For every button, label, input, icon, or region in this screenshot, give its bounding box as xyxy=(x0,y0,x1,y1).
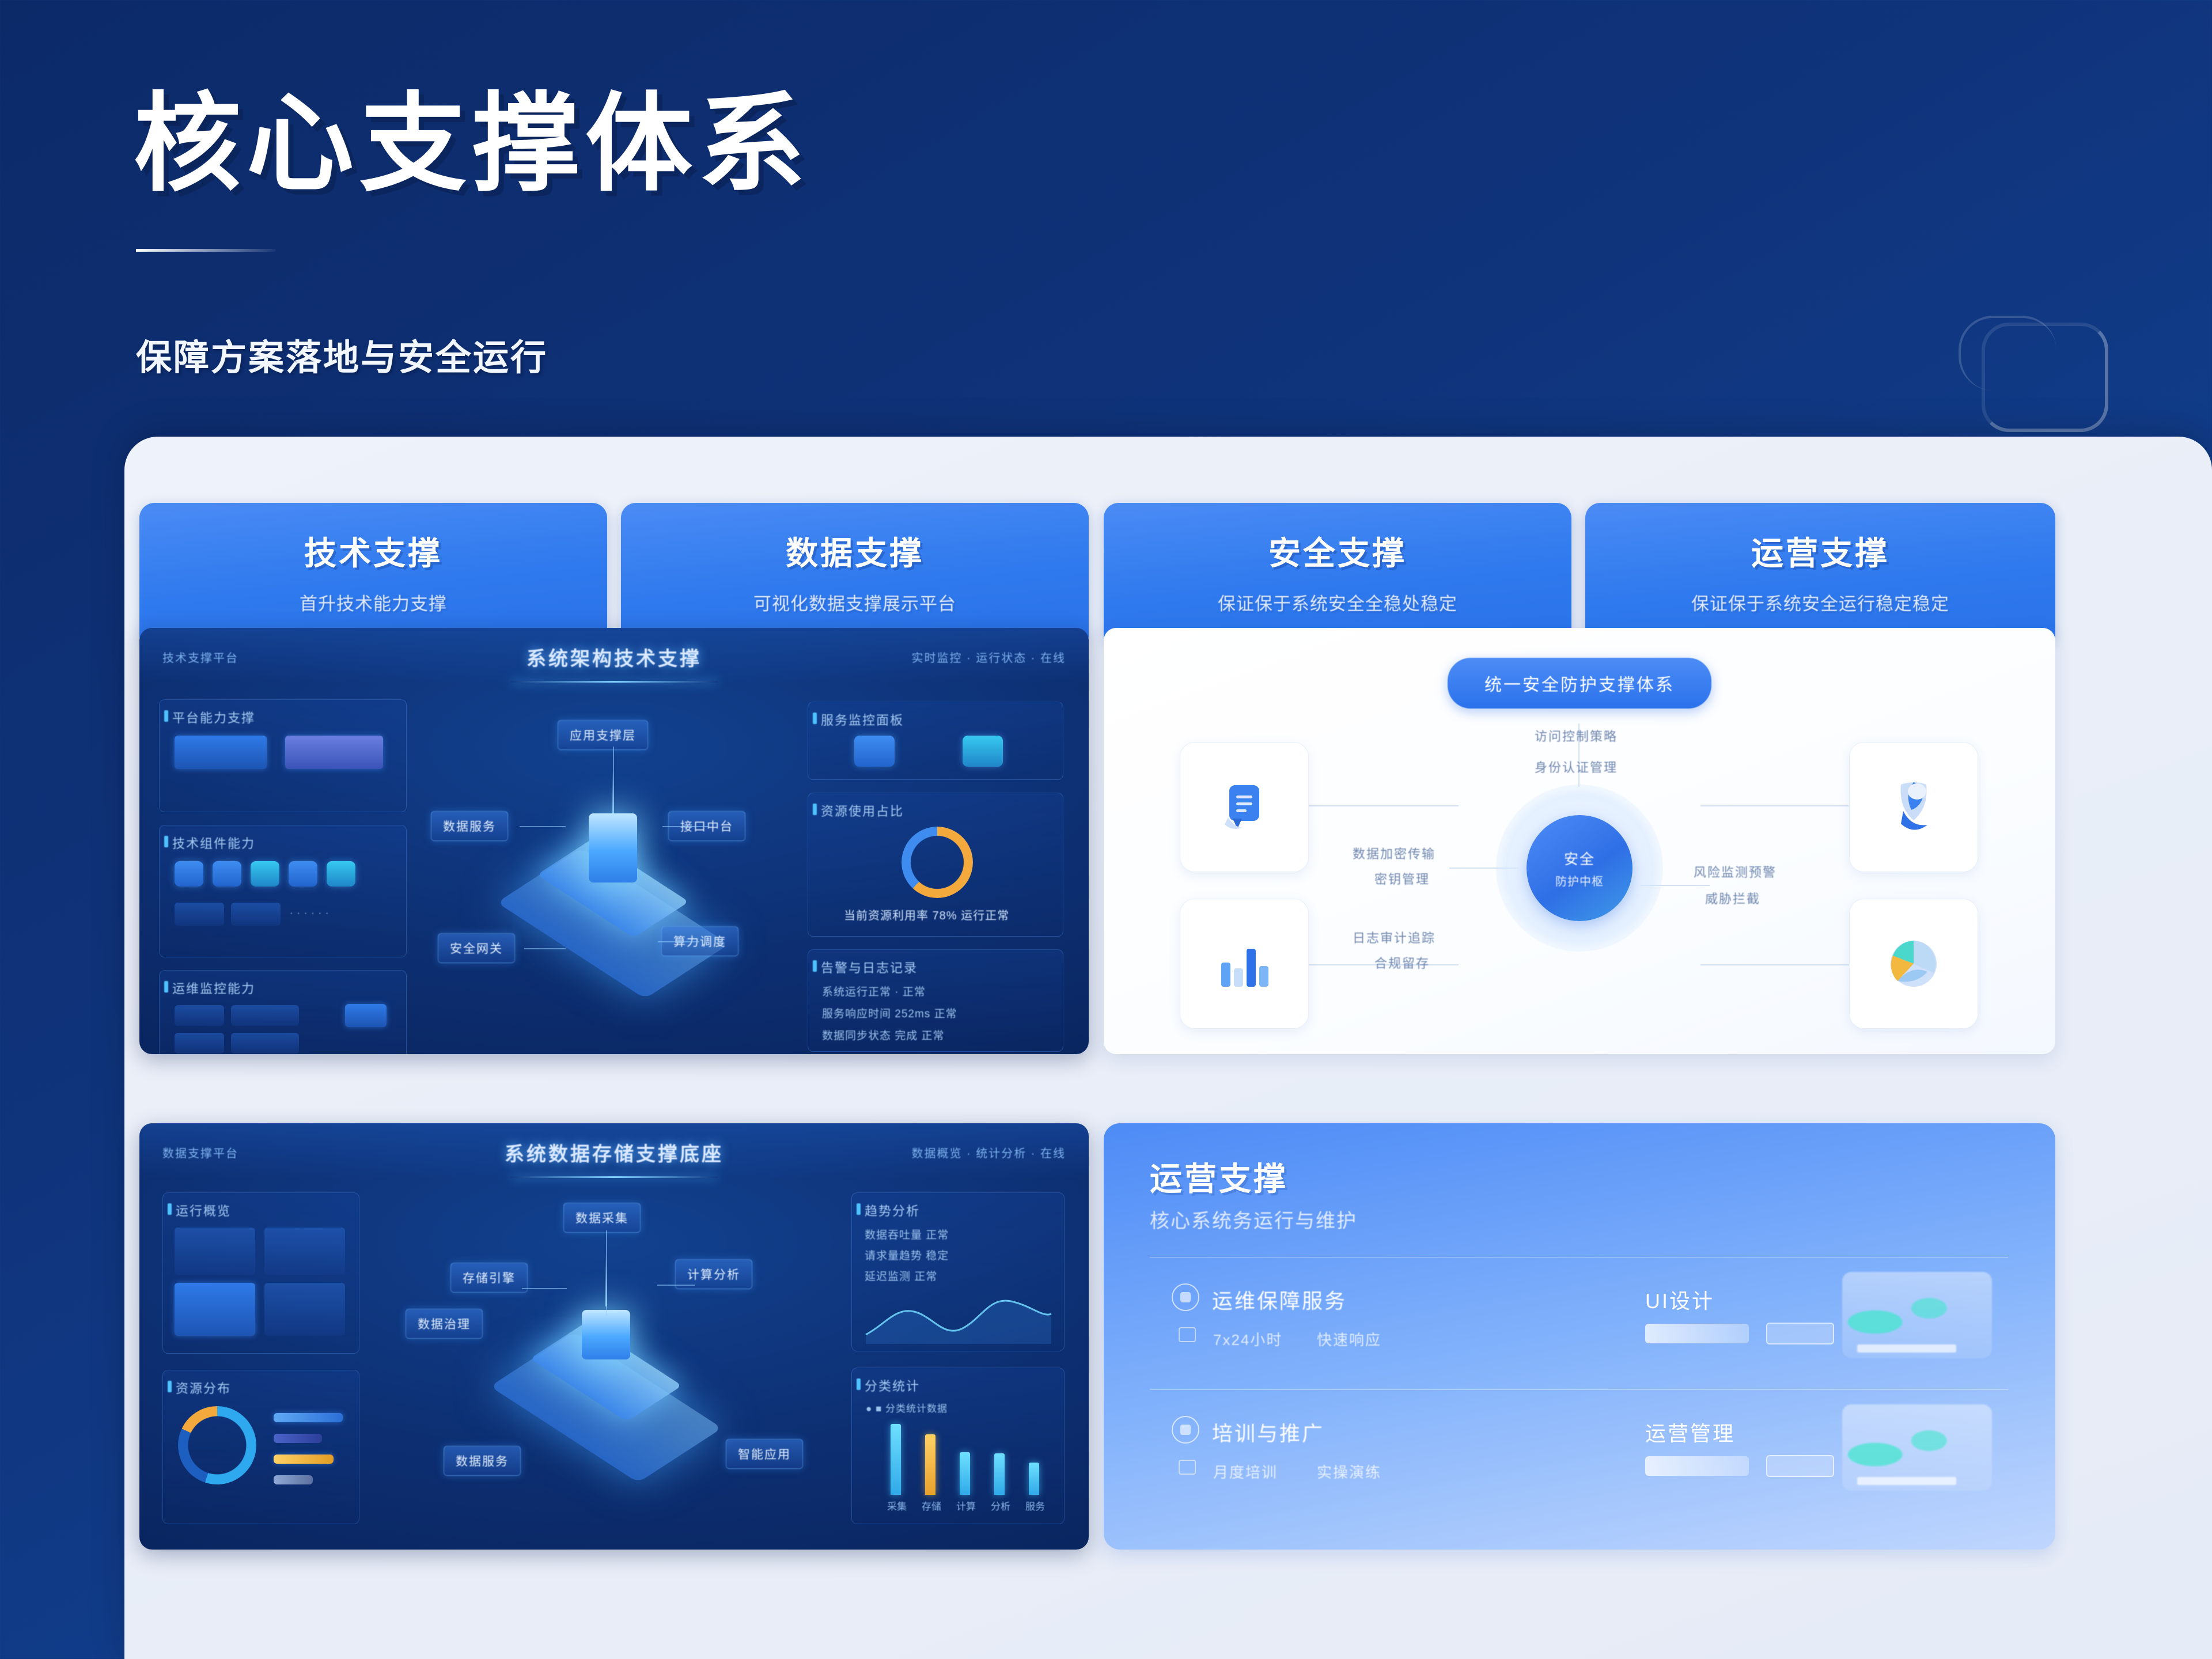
bar xyxy=(891,1424,901,1495)
connector xyxy=(606,1230,607,1316)
security-card-document[interactable] xyxy=(1180,742,1309,872)
ops-row-right-label: 运营管理 xyxy=(1645,1417,1735,1447)
axis-tick-label: 服务 xyxy=(1025,1498,1045,1513)
security-pill-label[interactable]: 统一安全防护支撑体系 xyxy=(1448,658,1711,709)
node-box[interactable]: 智能应用 xyxy=(726,1439,803,1469)
node-box[interactable]: 数据服务 xyxy=(444,1446,521,1476)
resource-distribution-donut xyxy=(178,1406,256,1484)
chip[interactable] xyxy=(175,1005,224,1026)
security-label-right-1: 风险监测预警 xyxy=(1694,863,1777,882)
page-subtitle: 保障方案落地与安全运行 xyxy=(136,328,548,380)
security-support-panel: 统一安全防护支撑体系 xyxy=(1104,628,2055,1054)
technical-support-dashboard: 技术支撑平台 系统架构技术支撑 实时监控 · 运行状态 · 在线 平台能力支撑 … xyxy=(139,628,1089,1054)
panel-header: 资源使用占比 xyxy=(821,801,904,820)
stat-tile[interactable] xyxy=(264,1283,345,1336)
dashboard-title: 系统架构技术支撑 xyxy=(527,643,702,671)
dashboard-title: 系统数据存储支撑底座 xyxy=(505,1138,724,1166)
panel-header: 资源分布 xyxy=(176,1378,231,1397)
team-illustration xyxy=(1842,1272,1992,1358)
panel-header: 平台能力支撑 xyxy=(172,708,255,726)
panel-header: 运行概览 xyxy=(176,1201,231,1219)
panel-alert-log[interactable]: 告警与日志记录 系统运行正常 · 正常 服务响应时间 252ms 正常 数据同步… xyxy=(808,949,1063,1052)
tab-technical-support[interactable]: 技术支撑 首升技术能力支撑 xyxy=(139,503,607,640)
tab-subtitle: 可视化数据支撑展示平台 xyxy=(753,589,956,615)
ops-row-tag-1: 月度培训 xyxy=(1213,1461,1278,1482)
title-divider xyxy=(136,249,275,252)
connector xyxy=(520,826,566,827)
legend-bar xyxy=(274,1434,322,1443)
tab-security-support[interactable]: 安全支撑 保证保于系统安全全稳处稳定 xyxy=(1104,503,1571,640)
bar xyxy=(1029,1463,1039,1495)
dashboard-topbar-right-label: 数据概览 · 统计分析 · 在线 xyxy=(911,1144,1066,1161)
node-box[interactable]: 安全网关 xyxy=(438,933,515,963)
ops-row-heading: 运维保障服务 xyxy=(1212,1285,1347,1315)
security-label-top-2: 身份认证管理 xyxy=(1535,758,1618,777)
component-icon[interactable] xyxy=(327,861,355,887)
node-box[interactable]: 数据服务 xyxy=(431,811,508,841)
connector xyxy=(522,1288,567,1289)
tab-subtitle: 保证保于系统安全运行稳定稳定 xyxy=(1691,589,1949,615)
bar-chart-icon xyxy=(1212,934,1277,994)
page-title: 核心支撑体系 xyxy=(134,56,811,212)
connector xyxy=(658,941,699,942)
decorative-arc xyxy=(1959,316,2056,391)
cube-core xyxy=(589,813,637,882)
connector xyxy=(1700,805,1850,806)
stat-tile[interactable] xyxy=(264,1228,345,1275)
panel-resource-usage[interactable]: 资源使用占比 当前资源利用率 78% 运行正常 xyxy=(808,793,1063,937)
axis-tick-label: 存储 xyxy=(922,1498,941,1513)
security-label-left-2: 密钥管理 xyxy=(1374,870,1430,889)
chip-active[interactable] xyxy=(345,1004,387,1027)
panel-category-stats[interactable]: 分类统计 ● ■ 分类统计数据 采集存储计算分析服务 xyxy=(851,1368,1065,1524)
tag-icon xyxy=(1179,1460,1196,1475)
training-icon xyxy=(1172,1416,1199,1444)
progress-bar xyxy=(1645,1324,1749,1343)
security-core-circle: 安全 防护中枢 xyxy=(1527,815,1633,921)
security-label-left-1: 数据加密传输 xyxy=(1353,844,1435,863)
ops-row-tag-2: 快速响应 xyxy=(1317,1328,1381,1350)
tab-title: 安全支撑 xyxy=(1268,528,1407,574)
chip[interactable] xyxy=(231,1005,299,1026)
trend-row: 数据吞吐量 正常 xyxy=(865,1226,949,1242)
connector xyxy=(662,826,709,827)
chip[interactable] xyxy=(231,903,281,926)
node-box[interactable]: 数据采集 xyxy=(563,1203,641,1233)
stat-tile[interactable] xyxy=(175,1228,255,1275)
data-support-dashboard: 数据支撑平台 系统数据存储支撑底座 数据概览 · 统计分析 · 在线 运行概览 … xyxy=(139,1123,1089,1550)
chip[interactable] xyxy=(175,903,224,926)
axis-tick-label: 计算 xyxy=(956,1498,976,1513)
meeting-illustration xyxy=(1842,1404,1992,1491)
ops-panel-subtitle: 核心系统务运行与维护 xyxy=(1150,1205,1357,1233)
progress-bar xyxy=(1645,1456,1749,1476)
operations-support-panel: 运营支撑 核心系统务运行与维护 运维保障服务 7x24小时 快速响应 UI设计 … xyxy=(1104,1123,2055,1550)
panel-header: 技术组件能力 xyxy=(172,834,255,852)
ops-row-heading: 培训与推广 xyxy=(1212,1417,1324,1447)
content-board: 技术支撑 首升技术能力支撑 数据支撑 可视化数据支撑展示平台 安全支撑 保证保于… xyxy=(124,437,2212,1659)
bar xyxy=(994,1453,1005,1495)
connector xyxy=(1700,964,1850,965)
document-shield-icon xyxy=(1214,777,1274,837)
tab-subtitle: 首升技术能力支撑 xyxy=(300,589,447,615)
dashboard-topbar-left-label: 技术支撑平台 xyxy=(162,649,238,665)
ops-row[interactable]: 培训与推广 月度培训 实操演练 运营管理 xyxy=(1104,1389,2055,1522)
glow-divider xyxy=(510,1176,718,1178)
security-core-subtitle: 防护中枢 xyxy=(1555,872,1604,889)
pie-chart-icon xyxy=(1880,934,1947,994)
ops-row[interactable]: 运维保障服务 7x24小时 快速响应 UI设计 xyxy=(1104,1257,2055,1389)
security-label-left-3: 日志审计追踪 xyxy=(1353,929,1435,948)
security-label-right-2: 威胁拦截 xyxy=(1705,889,1760,908)
headset-icon xyxy=(1172,1283,1199,1311)
status-badge[interactable] xyxy=(1766,1455,1834,1477)
panel-trend-analysis[interactable]: 趋势分析 数据吞吐量 正常 请求量趋势 稳定 延迟监测 正常 xyxy=(851,1192,1065,1351)
component-icon[interactable] xyxy=(251,861,279,887)
component-icon[interactable] xyxy=(213,861,241,887)
component-icon[interactable] xyxy=(175,861,203,887)
stat-tile-active[interactable] xyxy=(175,1283,255,1336)
security-card-pie[interactable] xyxy=(1849,899,1978,1029)
bar xyxy=(925,1434,935,1495)
tab-title: 技术支撑 xyxy=(304,528,442,574)
connector xyxy=(524,948,566,949)
tab-operations-support[interactable]: 运营支撑 保证保于系统安全运行稳定稳定 xyxy=(1585,503,2055,640)
cube-core xyxy=(582,1310,630,1359)
tab-data-support[interactable]: 数据支撑 可视化数据支撑展示平台 xyxy=(621,503,1089,640)
legend-bar xyxy=(274,1475,313,1484)
panel-service-monitor[interactable]: 服务监控面板 xyxy=(808,702,1063,780)
bar xyxy=(960,1452,970,1495)
tab-subtitle: 保证保于系统安全全稳处稳定 xyxy=(1218,589,1457,615)
panel-header: 服务监控面板 xyxy=(821,710,904,729)
trend-row: 延迟监测 正常 xyxy=(865,1268,937,1283)
panel-header: 告警与日志记录 xyxy=(821,958,918,976)
panel-header: 分类统计 xyxy=(865,1376,920,1395)
panel-header: 运维监控能力 xyxy=(172,979,255,997)
dashboard-topbar-left-label: 数据支撑平台 xyxy=(162,1144,238,1161)
chip[interactable] xyxy=(285,736,383,769)
panel-resource-distribution[interactable]: 资源分布 xyxy=(162,1370,359,1524)
ops-row-tag-2: 实操演练 xyxy=(1317,1461,1381,1482)
axis-tick-label: 采集 xyxy=(887,1498,907,1513)
tab-title: 数据支撑 xyxy=(786,528,924,574)
status-badge[interactable] xyxy=(1766,1323,1834,1344)
ops-panel-title: 运营支撑 xyxy=(1150,1153,1288,1200)
category-bar-chart xyxy=(878,1421,1051,1495)
tag-icon xyxy=(1179,1327,1196,1342)
connector xyxy=(657,1285,695,1286)
chip[interactable] xyxy=(175,736,267,769)
trend-line-chart xyxy=(862,1284,1055,1344)
security-card-shield[interactable] xyxy=(1849,742,1978,872)
isometric-core-cube xyxy=(520,1295,692,1468)
panel-header: 趋势分析 xyxy=(865,1201,920,1219)
node-box[interactable]: 应用支撑层 xyxy=(558,720,648,750)
axis-tick-label: 分析 xyxy=(991,1498,1010,1513)
dashboard-topbar-right-label: 实时监控 · 运行状态 · 在线 xyxy=(911,649,1066,665)
panel-ops-monitoring[interactable]: 运维监控能力 xyxy=(159,970,407,1054)
panel-run-overview[interactable]: 运行概览 xyxy=(162,1192,359,1354)
donut-caption: 当前资源利用率 78% 运行正常 xyxy=(844,906,1009,923)
bar-chart-axis-labels: 采集存储计算分析服务 xyxy=(878,1498,1051,1512)
security-label-left-4: 合规留存 xyxy=(1374,954,1430,973)
connector xyxy=(1309,805,1459,806)
tab-title: 运营支撑 xyxy=(1751,528,1889,574)
monitor-icon[interactable] xyxy=(854,736,895,767)
chip[interactable] xyxy=(231,1033,299,1054)
node-box[interactable]: 数据治理 xyxy=(406,1309,483,1339)
legend-bar xyxy=(274,1413,343,1422)
glow-divider xyxy=(510,681,718,683)
panel-platform-capability[interactable]: 平台能力支撑 xyxy=(159,699,407,812)
ops-row-tag-1: 7x24小时 xyxy=(1213,1328,1282,1350)
log-row: 系统运行正常 · 正常 xyxy=(822,983,926,999)
component-icon[interactable] xyxy=(289,861,317,887)
security-label-top-1: 访问控制策略 xyxy=(1535,727,1618,746)
panel-tech-components[interactable]: 技术组件能力 · · · · · · xyxy=(159,825,407,957)
node-box[interactable]: 存储引擎 xyxy=(450,1263,528,1293)
resource-donut-chart xyxy=(902,827,973,898)
connector xyxy=(613,747,614,811)
log-row: 服务响应时间 252ms 正常 xyxy=(822,1005,957,1021)
analytics-icon[interactable] xyxy=(963,736,1003,767)
security-core-ring: 安全 防护中枢 xyxy=(1496,785,1663,952)
log-row: 数据同步状态 完成 正常 xyxy=(822,1027,945,1043)
shield-check-icon xyxy=(1881,775,1946,839)
security-card-chart[interactable] xyxy=(1180,899,1309,1029)
legend-bar xyxy=(274,1455,334,1464)
trend-row: 请求量趋势 稳定 xyxy=(865,1247,949,1263)
ops-row-right-label: UI设计 xyxy=(1645,1285,1714,1315)
security-core-title: 安全 xyxy=(1564,848,1595,869)
chip[interactable] xyxy=(175,1033,224,1054)
